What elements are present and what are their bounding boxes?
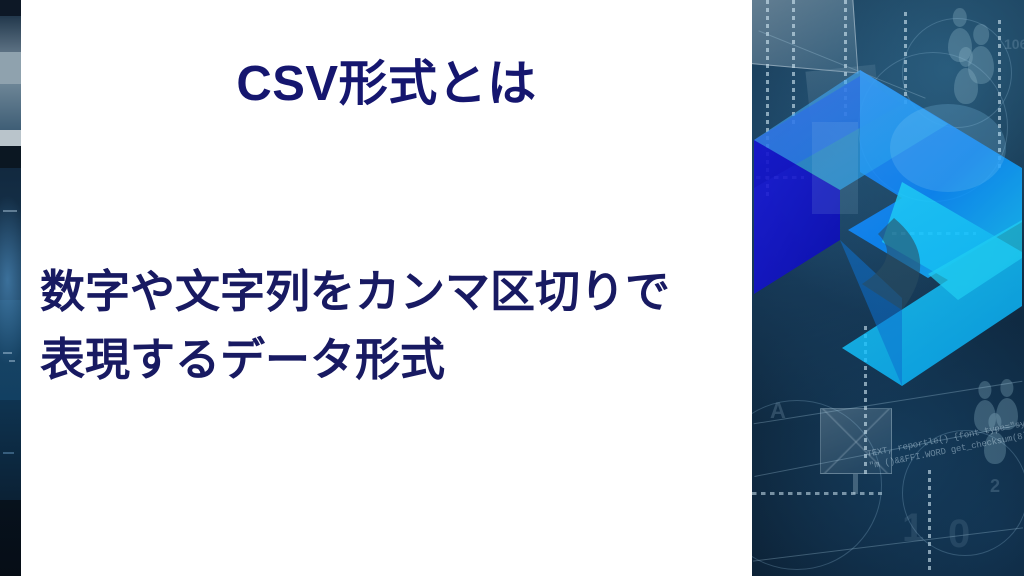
slide-content-area: CSV形式とは 数字や文字列をカンマ区切りで 表現するデータ形式 xyxy=(21,0,752,576)
background-glyph: 106 xyxy=(1004,36,1024,52)
page-title: CSV形式とは xyxy=(21,56,752,114)
strip-streak xyxy=(9,360,15,362)
slide-body-text: 数字や文字列をカンマ区切りで 表現するデータ形式 xyxy=(40,258,730,393)
background-glyph: A xyxy=(770,398,786,424)
body-line-2: 表現するデータ形式 xyxy=(40,326,730,394)
background-glyph: 2 xyxy=(990,476,1000,497)
body-line-1: 数字や文字列をカンマ区切りで xyxy=(40,258,730,326)
strip-streak xyxy=(3,452,14,454)
strip-streak xyxy=(3,210,17,212)
background-glyph: 1 xyxy=(902,506,924,551)
background-glyph: 0 xyxy=(948,512,970,557)
left-edge-decorative-strip xyxy=(0,0,21,576)
right-image-panel: TEXT, reportle() {font type="system" "m … xyxy=(752,0,1024,576)
strip-glow xyxy=(0,195,21,365)
presentation-slide: CSV形式とは 数字や文字列をカンマ区切りで 表現するデータ形式 xyxy=(0,0,1024,576)
strip-streak xyxy=(3,352,12,354)
brand-mark-watermark xyxy=(752,62,1024,394)
